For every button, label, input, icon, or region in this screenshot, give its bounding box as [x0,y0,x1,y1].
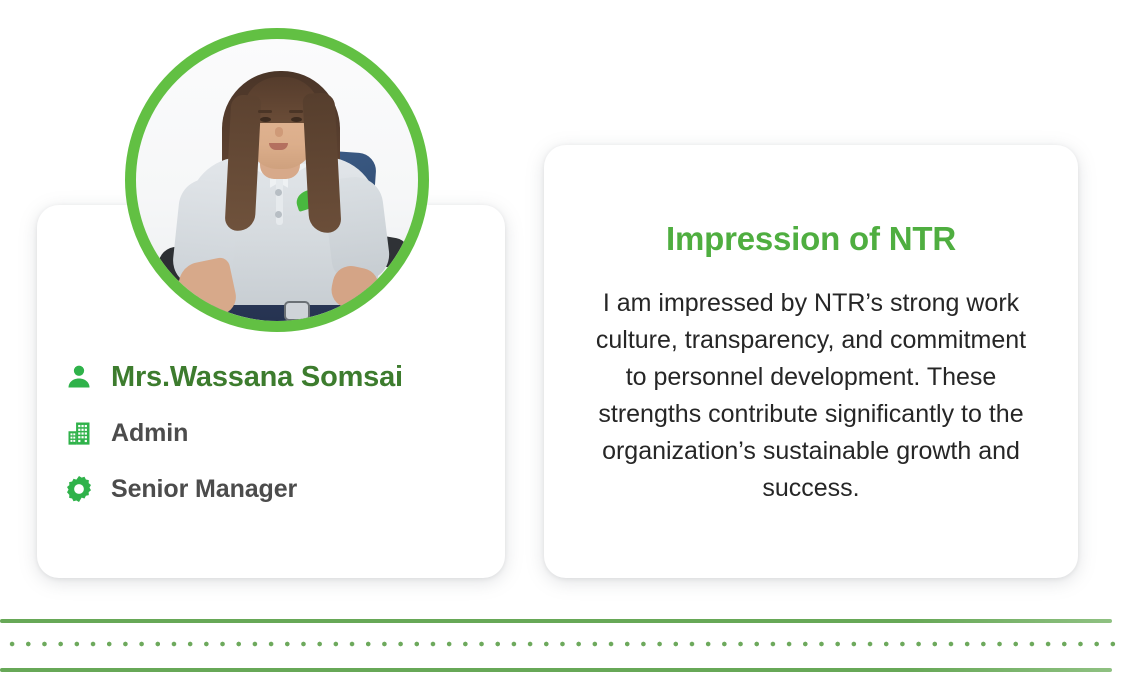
profile-info-list: Mrs.Wassana Somsai [62,360,482,506]
portrait-wristwatch [284,301,310,321]
portrait-shirt-button [275,189,282,196]
profile-name: Mrs.Wassana Somsai [111,361,403,394]
portrait-photo [136,39,418,321]
footer-dotted-rule [4,641,1119,647]
profile-row-position: Senior Manager [62,472,482,506]
portrait-eyebrow-right [289,110,303,113]
profile-department: Admin [111,419,188,448]
portrait-eye-right [291,117,302,122]
impression-title: Impression of NTR [544,220,1078,258]
gear-icon [62,472,96,506]
portrait-eyebrow-left [258,110,272,113]
footer-rule-top [0,619,1112,623]
footer-rule-bottom [0,668,1112,672]
portrait-eye-left [260,117,271,122]
avatar [125,28,429,332]
profile-row-name: Mrs.Wassana Somsai [62,360,482,394]
profile-row-department: Admin [62,416,482,450]
profile-position: Senior Manager [111,475,297,504]
portrait-shirt-button [275,211,282,218]
profile-testimonial-slide: Mrs.Wassana Somsai [0,0,1125,675]
impression-body: I am impressed by NTR’s strong work cult… [586,285,1036,507]
building-icon [62,416,96,450]
impression-card: Impression of NTR I am impressed by NTR’… [544,145,1078,578]
person-icon [62,360,96,394]
portrait-nose [275,127,283,137]
